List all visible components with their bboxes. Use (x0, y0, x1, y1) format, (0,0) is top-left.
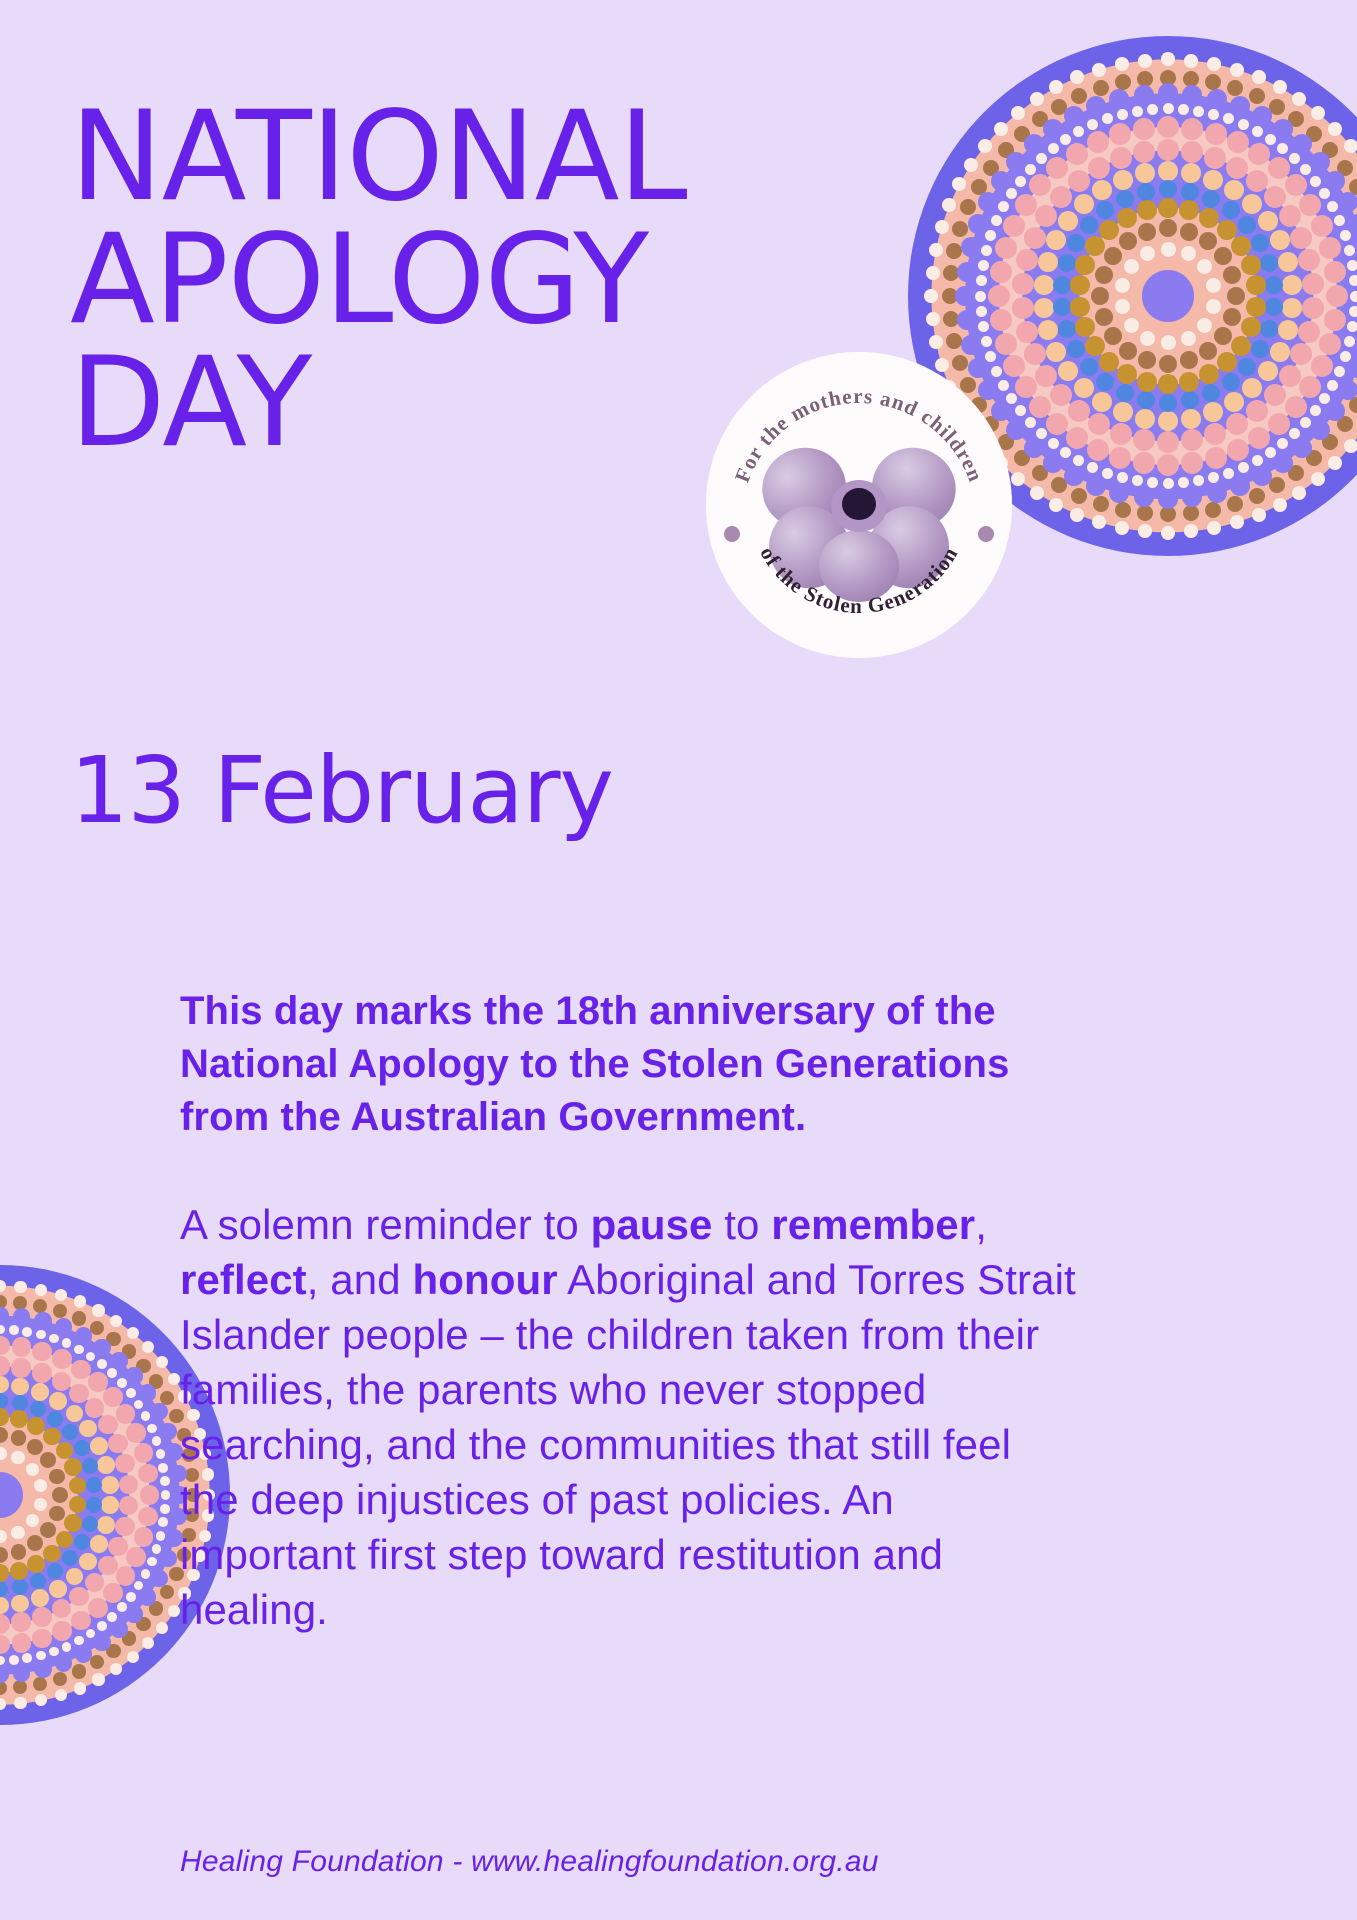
mandala-dot (1029, 396, 1051, 418)
mandala-dot (86, 1477, 102, 1493)
mandala-dot (1279, 365, 1301, 387)
mandala-dot (79, 1420, 97, 1438)
mandala-dot (0, 1427, 8, 1443)
mandala-dot (107, 1612, 117, 1622)
mandala-dot (1011, 472, 1025, 486)
mandala-dot (1325, 171, 1345, 191)
mandala-dot (1086, 96, 1106, 116)
mandala-dot (1344, 336, 1355, 347)
mandala-dot (1138, 351, 1156, 369)
mandala-dot (1034, 275, 1054, 295)
mandala-dot (1184, 54, 1198, 68)
mandala-dot (1347, 260, 1357, 271)
emphasis: pause (591, 1201, 713, 1248)
mandala-dot (101, 1476, 119, 1494)
mandala-dot (1264, 186, 1286, 208)
mandala-dot (1029, 174, 1051, 196)
mandala-dot (1208, 472, 1219, 483)
mandala-dot (983, 160, 999, 176)
mandala-dot (1068, 400, 1090, 422)
mandala-dot (149, 1601, 163, 1615)
mandala-dot (1285, 396, 1307, 418)
mandala-dot (1205, 74, 1221, 90)
mandala-dot (1036, 428, 1047, 439)
mandala-ring-fill (1142, 270, 1194, 322)
mandala-dot (1006, 152, 1026, 172)
mandala-dot (1132, 106, 1143, 117)
mandala-dot (1034, 298, 1054, 318)
mandala-dot (1299, 194, 1321, 216)
mandala-dot (35, 1694, 47, 1706)
mandala-dot (1075, 317, 1095, 337)
mandala-dot (1224, 392, 1244, 412)
poster-canvas: NATIONAL APOLOGY DAY 13 February (0, 0, 1357, 1920)
mandala-dot (160, 1585, 174, 1599)
mandala-dot (1137, 391, 1155, 409)
event-date: 13 February (70, 745, 613, 837)
mandala-dot (1043, 119, 1063, 139)
mandala-dot (1258, 211, 1278, 231)
mandala-dot (960, 199, 976, 215)
mandala-dot (1251, 234, 1269, 252)
mandala-dot (1119, 232, 1137, 250)
mandala-dot (1258, 361, 1278, 381)
mandala-dot (125, 1367, 143, 1385)
mandala-dot (1319, 188, 1330, 199)
mandala-dot (0, 1656, 5, 1666)
mandala-dot (85, 1573, 104, 1592)
mandala-dot (1080, 358, 1098, 376)
mandala-dot (31, 1589, 49, 1607)
mandala-dot (1050, 384, 1072, 406)
mandala-dot (1113, 402, 1133, 422)
mandala-dot (1109, 447, 1131, 469)
mandala-dot (1238, 462, 1249, 473)
mandala-dot (1337, 416, 1353, 432)
mandala-dot (1252, 126, 1263, 137)
mandala-dot (1273, 119, 1293, 139)
mandala-dot (34, 1660, 52, 1678)
mandala-ring-fill (965, 93, 1357, 499)
mandala-dot (1334, 366, 1345, 377)
mandala-dot (101, 1496, 119, 1514)
mandala-dot (1067, 234, 1085, 252)
mandala-dot (32, 1342, 51, 1361)
mandala-dot (1311, 472, 1325, 486)
mandala-dot (11, 1358, 30, 1377)
mandala-dot (1249, 88, 1265, 104)
mandala-dot (1310, 420, 1330, 440)
mandala-dot (136, 1359, 150, 1373)
mandala-dot (964, 158, 978, 172)
mandala-dot (1207, 521, 1221, 535)
mandala-dot (1324, 261, 1346, 283)
mandala-dot (1159, 219, 1177, 237)
mandala-dot (1217, 220, 1237, 240)
mandala-dot (134, 1443, 153, 1462)
mandala-dot (1024, 343, 1046, 365)
mandala-dot (1231, 336, 1251, 356)
mandala-dot (943, 265, 959, 281)
mandala-dot (1265, 134, 1276, 145)
mandala-dot (1206, 299, 1221, 314)
mandala-dot (139, 1588, 157, 1606)
mandala-dot (122, 1344, 136, 1358)
mandala-dot (995, 237, 1017, 259)
mandala-dot (1268, 413, 1290, 435)
mandala-dot (1334, 215, 1345, 226)
mandala-dot (11, 1544, 27, 1560)
mandala-dot (1338, 192, 1357, 212)
mandala-dot (1070, 297, 1090, 317)
mandala-dot (1269, 99, 1285, 115)
mandala-dot (1270, 230, 1290, 250)
mandala-dot (52, 1487, 68, 1503)
mandala-dot (90, 1321, 104, 1335)
mandala-dot (134, 1581, 144, 1591)
mandala-dot (127, 1327, 139, 1339)
mandala-dot (1015, 405, 1026, 416)
mandala-dot (971, 179, 987, 195)
mandala-dot (1088, 157, 1110, 179)
mandala-dot (1158, 489, 1178, 509)
mandala-dot (22, 1653, 32, 1663)
mandala-dot (1134, 85, 1154, 105)
mandala-dot (1204, 147, 1226, 169)
mandala-dot (1230, 515, 1244, 529)
mandala-dot (90, 1535, 108, 1553)
mandala-dot (1074, 378, 1094, 398)
mandala-dot (52, 1621, 71, 1640)
mandala-dot (32, 1607, 51, 1626)
emphasis: honour (412, 1256, 557, 1303)
mandala-dot (69, 1384, 88, 1403)
mandala-dot (168, 1373, 180, 1385)
mandala-dot (49, 1647, 59, 1657)
mandala-dot (55, 1318, 73, 1336)
mandala-dot (1199, 208, 1219, 228)
mandala-dot (26, 1463, 39, 1476)
mandala-dot (1251, 340, 1269, 358)
mandala-dot (1074, 194, 1094, 214)
mandala-dot (1093, 80, 1109, 96)
mandala-dot (1246, 170, 1268, 192)
mandala-dot (1182, 487, 1202, 507)
mandala-dot (0, 1356, 10, 1375)
mandala-dot (1071, 88, 1087, 104)
mandala-dot (1071, 488, 1087, 504)
mandala-dot (64, 1514, 82, 1532)
mandala-dot (1075, 255, 1095, 275)
mandala-dot (1024, 134, 1044, 154)
mandala-dot (1289, 153, 1300, 164)
mandala-dot (1012, 297, 1034, 319)
mandala-dot (1117, 109, 1128, 120)
mandala-dot (11, 1595, 29, 1613)
mandala-dot (1124, 318, 1139, 333)
mandala-dot (74, 1345, 84, 1355)
mandala-dot (1157, 139, 1179, 161)
mandala-dot (126, 1547, 145, 1566)
mandala-dot (1260, 320, 1278, 338)
mandala-dot (0, 1698, 6, 1710)
mandala-dot (103, 1387, 122, 1406)
mandala-dot (1140, 246, 1155, 261)
mandala-dot (56, 1442, 74, 1460)
mandala-dot (0, 1666, 9, 1684)
mandala-dot (1231, 236, 1251, 256)
mandala-dot (142, 1341, 154, 1353)
mandala-dot (1046, 230, 1066, 250)
mandala-dot (1088, 413, 1110, 435)
mandala-dot (1060, 447, 1071, 458)
mandala-dot (1025, 417, 1036, 428)
mandala-dot (14, 1697, 26, 1709)
mandala-dot (93, 1634, 111, 1652)
mandala-dot (1205, 123, 1227, 145)
mandala-dot (1113, 170, 1133, 190)
mandala-dot (0, 1408, 9, 1426)
mandala-ring-fill (1080, 208, 1257, 385)
mandala-dot (942, 288, 958, 304)
mandala-dot (34, 1312, 52, 1330)
mandala-dot (141, 1569, 151, 1579)
mandala-dot (1085, 236, 1105, 256)
mandala-dot (952, 221, 968, 237)
mandala-dot (127, 1651, 139, 1663)
mandala-dot (1096, 201, 1114, 219)
mandala-dot (1241, 255, 1261, 275)
mandala-dot (1124, 259, 1139, 274)
mandala-dot (126, 1423, 145, 1442)
mandala-dot (98, 1415, 117, 1434)
mandala-dot (1180, 351, 1198, 369)
mandala-ring-fill (999, 127, 1337, 465)
mandala-dot (1132, 475, 1143, 486)
mandala-dot (1349, 275, 1357, 286)
mandala-dot (160, 1504, 170, 1514)
mandala-dot (30, 1401, 46, 1417)
mandala-dot (1288, 111, 1304, 127)
mandala-dot (978, 321, 989, 332)
mandala-dot (47, 1563, 63, 1579)
mandala-dot (1016, 249, 1038, 271)
mandala-dot (1109, 123, 1131, 145)
mandala-dot (55, 1654, 73, 1672)
mandala-dot (1227, 131, 1249, 153)
mandala-dot (981, 336, 992, 347)
mandala-dot (1006, 188, 1017, 199)
mandala-dot (1184, 524, 1198, 538)
mandala-dot (1015, 176, 1026, 187)
mandala-dot (1348, 214, 1357, 234)
mandala-dot (0, 1376, 9, 1394)
mandala-dot (1095, 266, 1113, 284)
mandala-dot (1181, 163, 1201, 183)
mandala-dot (1032, 111, 1048, 127)
mandala-dot (1086, 476, 1106, 496)
mandala-dot (1050, 186, 1072, 208)
mandala-dot (110, 1352, 128, 1370)
mandala-dot (1181, 118, 1203, 140)
mandala-dot (0, 1325, 5, 1335)
mandala-dot (90, 1655, 104, 1669)
mandala-dot (134, 1400, 144, 1410)
mandala-dot (26, 1514, 39, 1527)
mandala-dot (1222, 373, 1240, 391)
mandala-dot (1181, 246, 1196, 261)
mandala-dot (1137, 183, 1155, 201)
mandala-dot (119, 1475, 138, 1494)
mandala-dot (1324, 309, 1346, 331)
mandala-dot (116, 1566, 135, 1585)
mandala-dot (1349, 306, 1357, 317)
mandala-dot (1058, 320, 1076, 338)
mandala-dot (1051, 99, 1067, 115)
mandala-dot (1066, 143, 1088, 165)
mandala-dot (1157, 454, 1179, 476)
mandala-dot (13, 1296, 27, 1310)
mandala-dot (1092, 515, 1106, 529)
mandala-dot (52, 1372, 71, 1391)
mandala-dot (55, 1289, 67, 1301)
mandala-dot (1338, 380, 1357, 400)
mandala-dot (107, 1368, 117, 1378)
mandala-dot (1238, 119, 1249, 130)
mandala-dot (1214, 327, 1232, 345)
mandala-dot (1310, 152, 1330, 172)
mandala-dot (1246, 297, 1266, 317)
mandala-dot (62, 1338, 72, 1348)
mandala-dot (110, 1620, 128, 1638)
mandala-dot (926, 266, 940, 280)
mandala-dot (35, 1284, 47, 1296)
mandala-dot (1252, 70, 1266, 84)
mandala-dot (998, 142, 1014, 158)
mandala-dot (9, 1655, 19, 1665)
mandala-dot (142, 1637, 154, 1649)
mandala-dot (1205, 447, 1227, 469)
mandala-dot (1205, 502, 1221, 518)
mandala-dot (943, 311, 959, 327)
mandala-dot (1068, 170, 1090, 192)
badge-dot-left (724, 526, 740, 542)
mandala-dot (1292, 438, 1312, 458)
mandala-dot (1147, 477, 1158, 488)
mandala-dot (1135, 163, 1155, 183)
mandala-dot (1133, 429, 1155, 451)
mandala-dot (98, 1556, 117, 1575)
mandala-dot (115, 1454, 134, 1473)
mandala-ring-fill (0, 1472, 23, 1518)
mandala-dot (1115, 299, 1130, 314)
mandala-dot (55, 1689, 67, 1701)
mandala-dot (85, 1398, 104, 1417)
mandala-dot (64, 1458, 82, 1476)
mandala-dot (75, 1327, 93, 1345)
mandala-dot (1302, 273, 1324, 295)
mandala-dot (1344, 439, 1357, 453)
mandala-dot (1016, 321, 1038, 343)
mandala-dot (0, 1614, 10, 1633)
mandala-dot (1117, 208, 1137, 228)
mandala-dot (1214, 247, 1232, 265)
mandala-dot (1053, 298, 1071, 316)
mandala-dot (1030, 92, 1044, 106)
mandala-dot (1248, 143, 1270, 165)
mandala-dot (1024, 438, 1044, 458)
mandala-dot (1199, 342, 1217, 360)
mandala-dot (10, 1410, 28, 1428)
mandala-dot (1137, 200, 1157, 220)
mandala-dot (1290, 343, 1312, 365)
mandala-dot (1104, 247, 1122, 265)
mandala-dot (991, 171, 1011, 191)
mandala-dot (1092, 180, 1112, 200)
mandala-dot (1138, 524, 1152, 538)
mandala-dot (150, 1403, 168, 1421)
mandala-ring-fill (0, 1417, 78, 1573)
mandala-dot (1181, 452, 1203, 474)
mandala-dot (1178, 104, 1189, 115)
mandala-dot (1282, 298, 1302, 318)
mandala-dot (62, 1550, 78, 1566)
mandala-dot (49, 1506, 65, 1522)
mandala-dot (160, 1391, 174, 1405)
mandala-dot (1300, 164, 1311, 175)
mandala-dot (110, 1663, 122, 1675)
mandala-dot (0, 1681, 7, 1695)
mandala-dot (62, 1424, 78, 1440)
mandala-dot (139, 1384, 157, 1402)
mandala-dot (946, 333, 962, 349)
mandala-dot (1344, 139, 1357, 153)
mandala-dot (1087, 131, 1109, 153)
mandala-dot (1134, 487, 1154, 507)
mandala-dot (1302, 297, 1324, 319)
mandala-dot (72, 1664, 86, 1678)
mandala-dot (12, 1395, 28, 1411)
mandala-dot (0, 1581, 8, 1597)
mandala-dot (97, 1516, 115, 1534)
mandala-dot (11, 1430, 27, 1446)
mandala-dot (71, 1611, 90, 1630)
mandala-dot (69, 1496, 87, 1514)
mandala-dot (1278, 320, 1298, 340)
mandala-dot (1246, 275, 1266, 295)
mandala-dot (1326, 285, 1348, 307)
mandala-dot (156, 1531, 166, 1541)
mandala-dot (1161, 52, 1175, 66)
mandala-dot (12, 1337, 31, 1356)
mandala-dot (1183, 71, 1199, 87)
mandala-dot (74, 1636, 84, 1646)
mandala-dot (1298, 321, 1320, 343)
mandala-dot (156, 1622, 168, 1634)
mandala-dot (1104, 327, 1122, 345)
mandala-dot (1049, 80, 1063, 94)
mandala-dot (1246, 400, 1268, 422)
mandala-dot (1273, 498, 1287, 512)
mandala-dot (0, 1635, 10, 1654)
mandala-dot (1260, 254, 1278, 272)
mandala-dot (991, 215, 1002, 226)
mandala-dot (1265, 447, 1276, 458)
mandala-dot (1092, 63, 1106, 77)
mandala-dot (1157, 431, 1179, 453)
mandala-dot (1158, 198, 1178, 218)
mandala-dot (1193, 106, 1204, 117)
